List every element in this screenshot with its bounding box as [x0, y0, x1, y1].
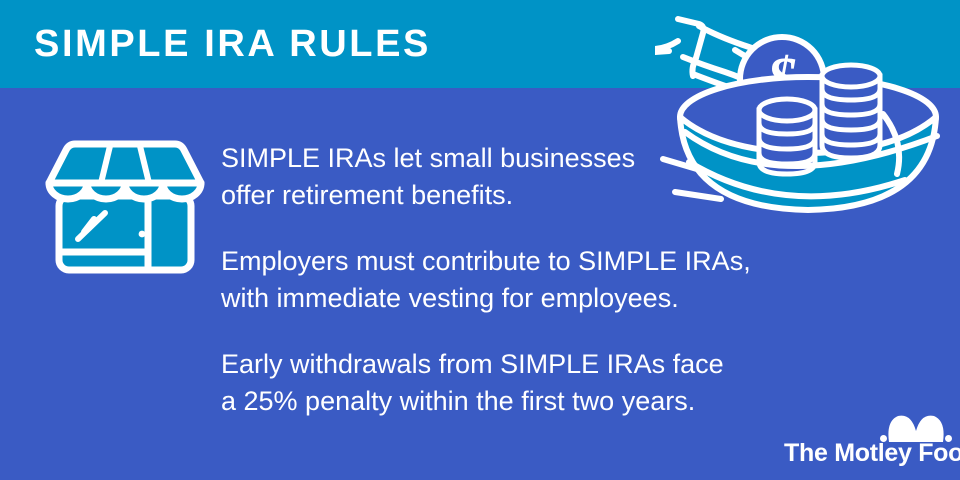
statement-3: Early withdrawals from SIMPLE IRAs face …: [221, 346, 861, 420]
body-text-block: SIMPLE IRAs let small businesses offer r…: [221, 140, 861, 420]
statement-1: SIMPLE IRAs let small businesses offer r…: [221, 140, 861, 214]
infographic-canvas: SIMPLE IRA RULES: [0, 0, 960, 480]
motley-fool-logo[interactable]: The Motley Fool.: [784, 413, 952, 467]
storefront-icon: [45, 133, 205, 278]
statement-2: Employers must contribute to SIMPLE IRAs…: [221, 243, 861, 317]
page-title: SIMPLE IRA RULES: [34, 20, 431, 68]
logo-wordmark: The Motley Fool.: [784, 439, 960, 467]
